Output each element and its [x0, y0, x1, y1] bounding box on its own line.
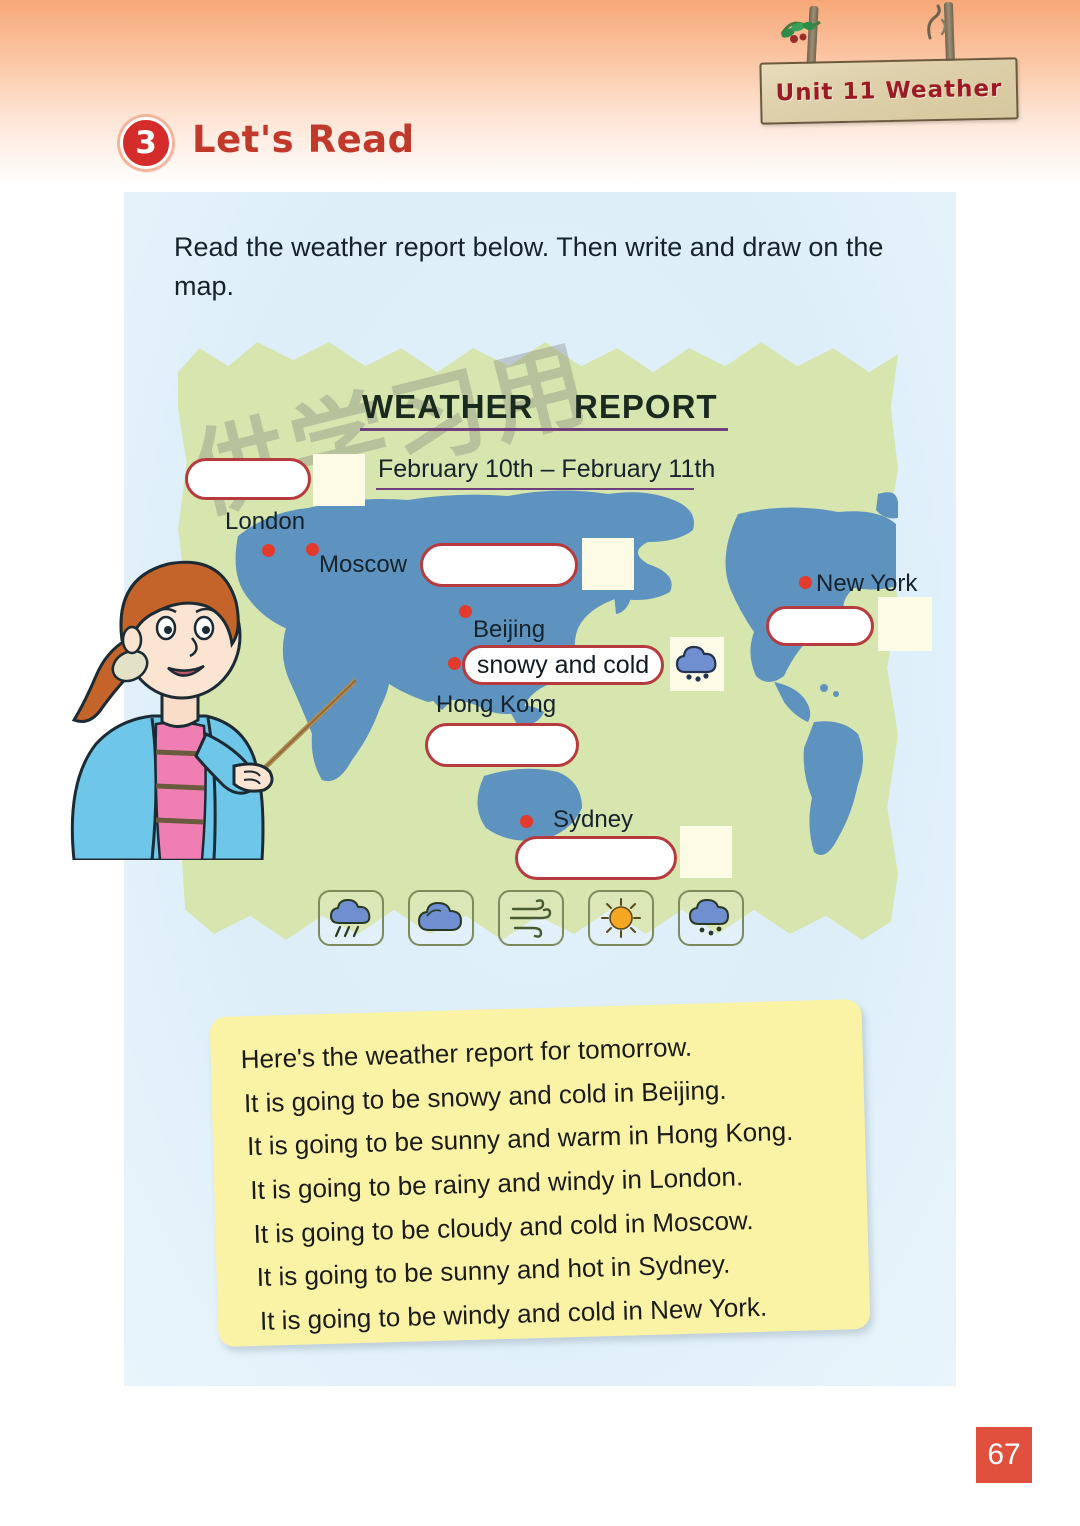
cloudy-icon: [415, 896, 467, 940]
weather-report-dates: February 10th – February 11th: [378, 455, 715, 484]
section-number: 3: [135, 125, 157, 161]
unit-sign: Unit 11 Weather: [759, 57, 1018, 124]
icon-slot-newyork[interactable]: [878, 597, 932, 651]
legend-item-snowy[interactable]: [678, 890, 744, 946]
icon-slot-moscow[interactable]: [582, 538, 634, 590]
legend-item-windy[interactable]: [498, 890, 564, 946]
city-dot-newyork: [799, 576, 812, 589]
page-number: 67: [976, 1427, 1032, 1483]
icon-slot-london[interactable]: [313, 454, 365, 506]
city-label-newyork: New York: [816, 570, 917, 598]
answer-input-newyork[interactable]: [766, 606, 874, 646]
weather-report-heading-rule: [360, 428, 728, 431]
city-label-hongkong: Hong Kong: [436, 691, 556, 719]
legend-item-cloudy[interactable]: [408, 890, 474, 946]
report-note-lines: Here's the weather report for tomorrow. …: [240, 1022, 848, 1344]
leaf-icon: [778, 14, 824, 48]
legend-item-sunny[interactable]: [588, 890, 654, 946]
city-dot-beijing: [459, 605, 472, 618]
sunny-icon: [595, 896, 647, 940]
answer-input-london[interactable]: [185, 458, 311, 500]
icon-slot-beijing[interactable]: [670, 637, 724, 691]
answer-input-hongkong[interactable]: [425, 723, 579, 767]
legend-item-rainy[interactable]: [318, 890, 384, 946]
city-dot-sydney: [520, 815, 533, 828]
page-title: Let's Read: [192, 118, 415, 161]
answer-input-moscow[interactable]: [420, 543, 578, 587]
unit-sign-label: Unit 11 Weather: [775, 76, 1002, 107]
answer-input-beijing[interactable]: snowy and cold: [462, 645, 664, 685]
weather-report-note: Here's the weather report for tomorrow. …: [210, 999, 871, 1347]
weather-report-heading: WEATHER REPORT: [362, 388, 718, 426]
snowy-icon: [685, 896, 737, 940]
section-number-badge: 3: [120, 117, 172, 169]
windy-icon: [505, 896, 557, 940]
city-dot-hongkong: [448, 657, 461, 670]
rainy-icon: [325, 896, 377, 940]
teacher-illustration: [56, 520, 356, 860]
snowy-icon: [673, 642, 721, 686]
weather-icon-legend: [318, 890, 744, 946]
answer-input-sydney[interactable]: [515, 836, 677, 880]
vine-curl-icon: [920, 4, 954, 40]
weather-report-dates-rule: [376, 488, 694, 490]
icon-slot-sydney[interactable]: [680, 826, 732, 878]
city-label-sydney: Sydney: [553, 806, 633, 834]
city-label-beijing: Beijing: [473, 616, 545, 644]
instruction-text: Read the weather report below. Then writ…: [174, 228, 904, 306]
